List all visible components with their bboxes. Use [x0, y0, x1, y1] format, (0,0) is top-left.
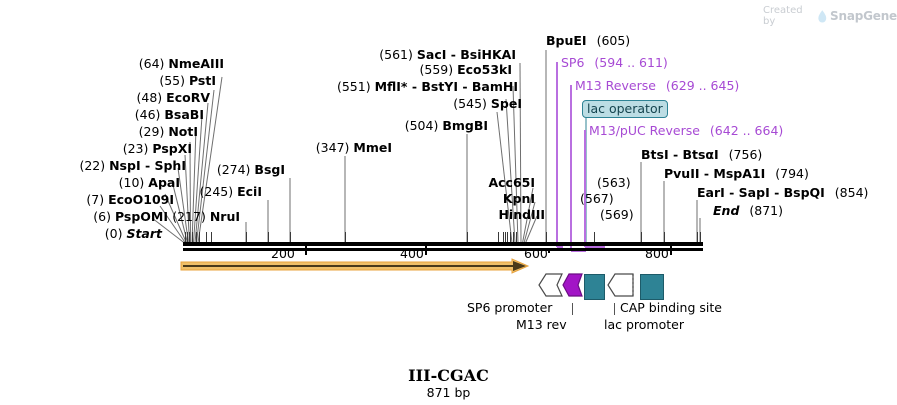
enzyme-label-start: (0) Start — [0, 227, 162, 241]
primer-label-sp6: SP6 (594 .. 611) — [561, 56, 668, 70]
enzyme-pos: (7) — [86, 192, 104, 207]
primer-label-m13-reverse: M13 Reverse (629 .. 645) — [575, 79, 739, 93]
enzyme-label-acc65i: Acc65I — [450, 176, 535, 190]
enzyme-label-kpni: KpnI — [450, 192, 535, 206]
enzyme-label-ecii: (245) EciI — [150, 185, 262, 199]
enzyme-name: SacI - BsiHKAI — [417, 47, 516, 62]
lac-operator-badge: lac operator — [582, 100, 668, 118]
enzyme-pos-acc65i: (563) — [597, 176, 631, 190]
enzyme-name: MflI* - BstYI - BamHI — [375, 79, 518, 94]
enzyme-name: PspXI — [152, 141, 192, 156]
feature-caption-m13-rev: M13 rev — [516, 317, 567, 332]
enzyme-pos: (756) — [729, 147, 763, 162]
enzyme-pos: (545) — [453, 96, 487, 111]
enzyme-label-hindiii: HindIII — [450, 208, 545, 222]
enzyme-pos: (10) — [119, 175, 145, 190]
lac-operator-label: lac operator — [587, 101, 663, 116]
enzyme-label-bsgi: (274) BsgI — [170, 163, 285, 177]
enzyme-label-psti: (55) PstI — [0, 74, 216, 88]
enzyme-pos: (794) — [775, 166, 809, 181]
ruler-tick — [425, 245, 427, 255]
enzyme-pos: (605) — [597, 33, 631, 48]
enzyme-name: MmeI — [353, 140, 392, 155]
primer-range: (629 .. 645) — [666, 78, 739, 93]
enzyme-pos: (561) — [379, 47, 413, 62]
enzyme-name: PvuII - MspA1I — [664, 166, 765, 181]
enzyme-name: KpnI — [503, 191, 535, 206]
enzyme-label-nmeaiii: (64) NmeAIII — [0, 57, 224, 71]
caption-stem — [614, 303, 615, 315]
enzyme-label-ecorv: (48) EcoRV — [0, 91, 210, 105]
ruler-tick — [305, 245, 307, 255]
enzyme-pos: (551) — [337, 79, 371, 94]
primer-name: M13 Reverse — [575, 78, 656, 93]
feature-caption-lac-promoter: lac promoter — [604, 317, 684, 332]
primer-range: (594 .. 611) — [594, 55, 667, 70]
enzyme-pos: (6) — [93, 209, 111, 224]
enzyme-pos: (871) — [749, 203, 783, 218]
snapgene-watermark: Created by SnapGene — [763, 5, 897, 27]
enzyme-name: EciI — [237, 184, 262, 199]
feature-caption-cap-binding-site: CAP binding site — [620, 300, 722, 315]
enzyme-name: Acc65I — [488, 175, 535, 190]
enzyme-pos: (274) — [217, 162, 251, 177]
enzyme-label-saci-bsihkai: (561) SacI - BsiHKAI — [320, 48, 516, 62]
enzyme-label-spei: (545) SpeI — [370, 97, 522, 111]
enzyme-pos: (347) — [316, 140, 350, 155]
feature-m13-rev-glyph[interactable] — [562, 272, 584, 302]
enzyme-name: Eco53kI — [457, 62, 512, 77]
enzyme-name: NruI — [210, 209, 240, 224]
enzyme-pos-kpni: (567) — [580, 192, 614, 206]
enzyme-label-nrui: (217) NruI — [130, 210, 240, 224]
enzyme-name: NotI — [168, 124, 198, 139]
enzyme-pos: (29) — [139, 124, 165, 139]
enzyme-pos: (46) — [135, 107, 161, 122]
enzyme-label-eco53ki: (559) Eco53kI — [340, 63, 512, 77]
sequence-length: 871 bp — [0, 385, 897, 400]
enzyme-label-bpuei: BpuEI (605) — [546, 34, 630, 48]
primer-label-m13-puc-reverse: M13/pUC Reverse (642 .. 664) — [589, 124, 783, 138]
enzyme-name: NmeAIII — [168, 56, 224, 71]
primer-name: SP6 — [561, 55, 584, 70]
enzyme-label-mfli-bstyi-bamhi: (551) MflI* - BstYI - BamHI — [290, 80, 518, 94]
enzyme-pos: (48) — [137, 90, 163, 105]
enzyme-pos: (559) — [419, 62, 453, 77]
enzyme-pos: (23) — [123, 141, 149, 156]
sequence-backbone-bottom — [183, 248, 703, 251]
primer-name: M13/pUC Reverse — [589, 123, 700, 138]
enzyme-pos-hindiii: (569) — [600, 208, 634, 222]
enzyme-pos: (504) — [405, 118, 439, 133]
enzyme-pos: (55) — [159, 73, 185, 88]
caption-stem — [572, 303, 573, 315]
enzyme-label-nspi-sphi: (22) NspI - SphI — [0, 159, 186, 173]
enzyme-name: BsaBI — [164, 107, 204, 122]
enzyme-name: HindIII — [498, 207, 545, 222]
enzyme-label-eari-sapi-bspqi: EarI - SapI - BspQI (854) — [697, 186, 868, 200]
enzyme-pos: (854) — [835, 185, 869, 200]
feature-caption-sp6-promoter: SP6 promoter — [467, 300, 552, 315]
enzyme-pos: (217) — [172, 209, 206, 224]
enzyme-name: Start — [126, 226, 162, 241]
enzyme-pos: (64) — [139, 56, 165, 71]
feature-sp6-promoter-glyph[interactable] — [538, 272, 564, 302]
enzyme-label-pvuii-mspa1i: PvuII - MspA1I (794) — [664, 167, 809, 181]
enzyme-label-mmei: (347) MmeI — [230, 141, 392, 155]
sequence-backbone-top — [183, 242, 703, 246]
enzyme-name: BsgI — [254, 162, 285, 177]
feature-cap-binding-site-glyph[interactable] — [640, 274, 664, 300]
enzyme-name: BpuEI — [546, 33, 587, 48]
enzyme-pos: (22) — [79, 158, 105, 173]
enzyme-label-noti: (29) NotI — [0, 125, 198, 139]
enzyme-name: End — [713, 203, 739, 218]
page-title: III-CGAC — [0, 366, 897, 385]
watermark-prefix: Created by — [763, 5, 815, 27]
ruler-label-800: 800 — [645, 246, 669, 261]
enzyme-label-end: End (871) — [713, 204, 783, 218]
primer-range: (642 .. 664) — [710, 123, 783, 138]
enzyme-label-pspxi: (23) PspXI — [0, 142, 192, 156]
enzyme-label-btsi-btsai: BtsI - BtsαI (756) — [641, 148, 762, 162]
enzyme-label-bmgbi: (504) BmgBI — [330, 119, 488, 133]
enzyme-name: SpeI — [491, 96, 522, 111]
feature-lac-promoter-glyph[interactable] — [607, 272, 635, 302]
watermark-brand: SnapGene — [830, 9, 897, 23]
enzyme-name: BmgBI — [442, 118, 488, 133]
enzyme-label-bsabi: (46) BsaBI — [0, 108, 204, 122]
enzyme-name: EcoRV — [166, 90, 210, 105]
enzyme-name: PstI — [189, 73, 216, 88]
snapgene-linear-map: Created by SnapGene — [0, 0, 897, 405]
enzyme-name: EarI - SapI - BspQI — [697, 185, 825, 200]
enzyme-name: BtsI - BtsαI — [641, 147, 719, 162]
ruler-tick — [670, 245, 672, 255]
enzyme-pos: (245) — [200, 184, 234, 199]
enzyme-label-ecoo109i: (7) EcoO109I — [0, 193, 174, 207]
feature-lac-operator-glyph[interactable] — [584, 274, 605, 300]
snapgene-droplet-icon — [818, 10, 827, 23]
ruler-tick — [548, 250, 550, 253]
enzyme-pos: (0) — [105, 226, 123, 241]
orf-arrow — [180, 258, 530, 276]
